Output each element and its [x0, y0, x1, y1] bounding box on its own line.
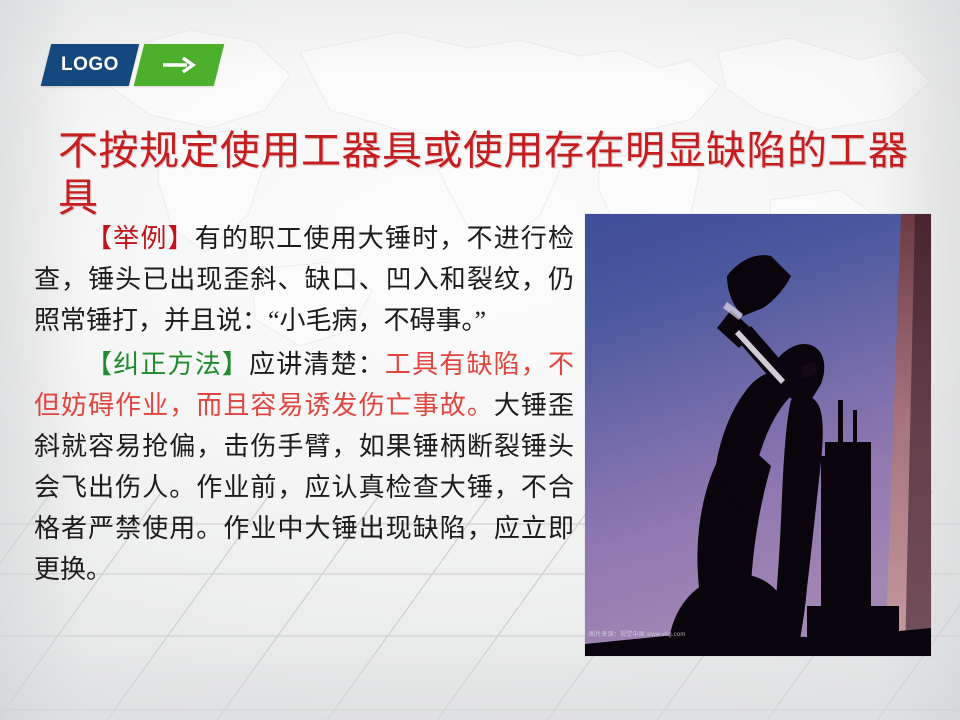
logo-arrow-badge [134, 44, 224, 86]
label-correction-method: 【纠正方法】 [86, 350, 249, 379]
logo-text: LOGO [61, 54, 119, 76]
photo-worker-with-sledgehammer: 图片来源：视觉中国 www.vcg.com [585, 214, 931, 656]
logo-badge: LOGO [41, 44, 139, 86]
photo-credit: 图片来源：视觉中国 www.vcg.com [589, 629, 686, 638]
paragraph-correction-run-0: 应讲清楚： [249, 350, 385, 379]
paragraph-example: 【举例】有的职工使用大锤时，不进行检查，锤头已出现歪斜、缺口、凹入和裂纹，仍照常… [34, 218, 574, 341]
paragraph-correction: 【纠正方法】应讲清楚：工具有缺陷，不但妨碍作业，而且容易诱发伤亡事故。大锤歪斜就… [34, 344, 574, 590]
arrow-right-icon [159, 54, 199, 76]
label-example: 【举例】 [86, 224, 195, 253]
logo[interactable]: LOGO [46, 44, 219, 86]
body-text: 【举例】有的职工使用大锤时，不进行检查，锤头已出现歪斜、缺口、凹入和裂纹，仍照常… [34, 218, 574, 593]
page-title: 不按规定使用工器具或使用存在明显缺陷的工器具 [58, 127, 918, 221]
slide-canvas: LOGO 不按规定使用工器具或使用存在明显缺陷的工器具 【举例】有的职工使用大锤… [0, 0, 960, 720]
